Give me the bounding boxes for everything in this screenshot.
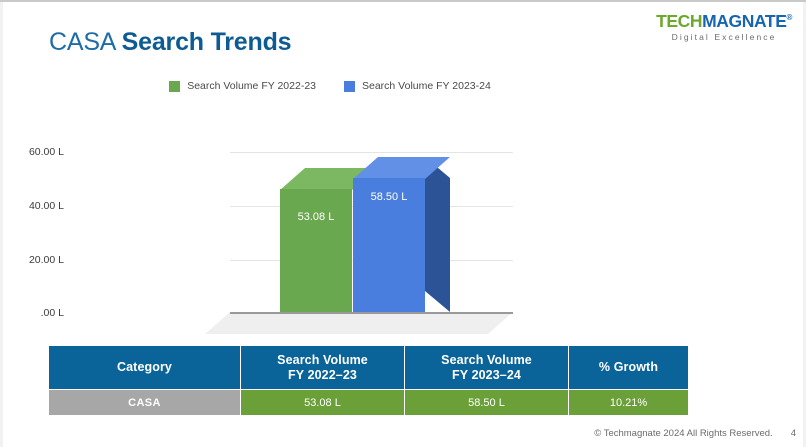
- page-title-bold: Search Trends: [122, 28, 292, 56]
- legend-swatch-blue: [344, 81, 355, 92]
- gridline-60: [230, 152, 513, 153]
- table-header-growth-line1: % Growth: [569, 360, 688, 374]
- bar-fy2023-24-side-face: [425, 157, 450, 312]
- bar-fy2022-23-value-label: 53.08 L: [280, 211, 352, 223]
- table-header-fy2022-23-line1: Search Volume: [241, 353, 404, 367]
- logo-tech-text: TECH: [656, 11, 702, 31]
- search-trends-bar-chart: Search Volume FY 2022-23 Search Volume F…: [0, 80, 806, 320]
- legend-label-fy2023-24: Search Volume FY 2023-24: [362, 80, 491, 92]
- logo-wordmark: TECHMAGNATE®: [656, 13, 792, 31]
- bar-fy2023-24[interactable]: 58.50 L: [353, 178, 425, 312]
- page-title-light: CASA: [49, 28, 115, 56]
- logo-magnate-text: MAGNATE: [702, 11, 786, 31]
- table-cell-fy2023-24: 58.50 L: [405, 390, 569, 416]
- y-tick-label-40: 40.00 L: [0, 200, 64, 212]
- table-header-fy2022-23-line2: FY 2022–23: [241, 368, 404, 382]
- y-tick-label-60: 60.00 L: [0, 146, 64, 158]
- copyright-text: © Techmagnate 2024 All Rights Reserved.: [594, 428, 772, 439]
- chart-floor: [205, 312, 513, 334]
- table-cell-category: CASA: [49, 390, 241, 416]
- table-row: CASA 53.08 L 58.50 L 10.21%: [49, 390, 689, 416]
- legend-swatch-green: [169, 81, 180, 92]
- slide-footer: © Techmagnate 2024 All Rights Reserved. …: [594, 428, 796, 439]
- search-volume-table: Category Search Volume FY 2022–23 Search…: [48, 345, 689, 416]
- chart-legend: Search Volume FY 2022-23 Search Volume F…: [0, 80, 660, 92]
- table-header-fy2023-24-line2: FY 2023–24: [405, 368, 568, 382]
- table-header-row: Category Search Volume FY 2022–23 Search…: [49, 346, 689, 390]
- y-tick-label-0: .00 L: [0, 307, 64, 319]
- table-cell-growth: 10.21%: [569, 390, 689, 416]
- legend-item-fy2023-24: Search Volume FY 2023-24: [344, 80, 491, 92]
- techmagnate-logo: TECHMAGNATE® Digital Excellence: [656, 13, 792, 41]
- page-number: 4: [791, 428, 796, 439]
- table-cell-fy2022-23: 53.08 L: [241, 390, 405, 416]
- legend-item-fy2022-23: Search Volume FY 2022-23: [169, 80, 316, 92]
- legend-label-fy2022-23: Search Volume FY 2022-23: [187, 80, 316, 92]
- logo-tagline: Digital Excellence: [656, 33, 792, 42]
- y-tick-label-20: 20.00 L: [0, 254, 64, 266]
- table-header-fy2023-24: Search Volume FY 2023–24: [405, 346, 569, 390]
- table-header-growth: % Growth: [569, 346, 689, 390]
- slide-canvas: CASA Search Trends TECHMAGNATE® Digital …: [0, 0, 806, 447]
- table-header-category: Category: [49, 346, 241, 390]
- chart-plot-area: 60.00 L 40.00 L 20.00 L .00 L 53.08 L: [0, 110, 660, 320]
- bar-fy2022-23[interactable]: 53.08 L: [280, 189, 352, 312]
- table-header-fy2023-24-line1: Search Volume: [405, 353, 568, 367]
- page-title: CASA Search Trends: [49, 28, 291, 57]
- registered-trademark-icon: ®: [787, 13, 793, 22]
- chart-baseline-axis: [230, 312, 513, 314]
- table-header-fy2022-23: Search Volume FY 2022–23: [241, 346, 405, 390]
- bar-fy2023-24-value-label: 58.50 L: [353, 191, 425, 203]
- bar-fy2022-23-front-face: [280, 189, 352, 312]
- table-header-category-line1: Category: [49, 360, 240, 374]
